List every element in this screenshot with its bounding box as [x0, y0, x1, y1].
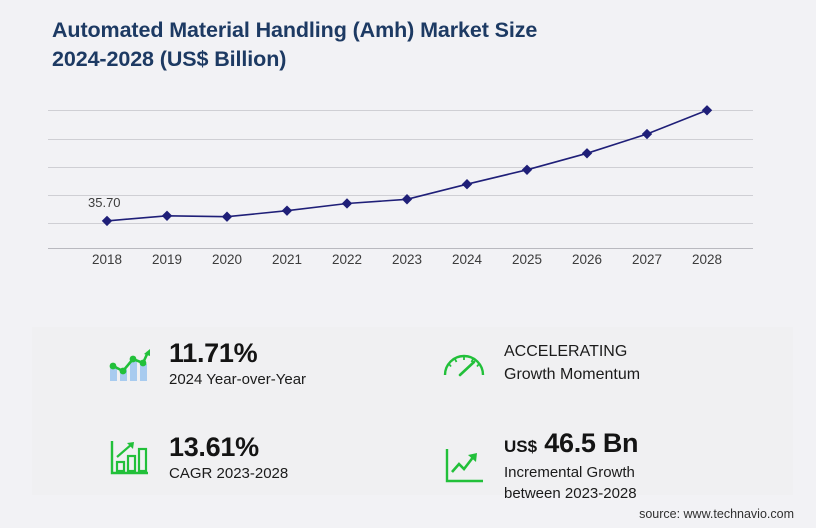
data-point-2019: [162, 211, 172, 221]
line-chart-arrow-icon: [438, 443, 490, 489]
stat-cagr-caption: CAGR 2023-2028: [169, 463, 288, 484]
x-tick-2022: 2022: [317, 252, 377, 267]
page-title: Automated Material Handling (Amh) Market…: [52, 16, 712, 74]
data-point-2021: [282, 205, 292, 215]
stat-yoy-text: 11.71% 2024 Year-over-Year: [169, 338, 306, 390]
title-line-2: 2024-2028 (US$ Billion): [52, 45, 712, 74]
stat-yoy-value: 11.71%: [169, 338, 306, 369]
data-point-2023: [402, 194, 412, 204]
stat-cagr-text: 13.61% CAGR 2023-2028: [169, 432, 288, 484]
data-point-2022: [342, 198, 352, 208]
x-tick-2024: 2024: [437, 252, 497, 267]
data-point-2026: [582, 148, 592, 158]
stat-cagr: 13.61% CAGR 2023-2028: [103, 432, 288, 484]
bar-chart-arrow-icon: [103, 435, 155, 481]
data-point-2020: [222, 211, 232, 221]
data-point-2025: [522, 165, 532, 175]
x-axis-labels: 2018201920202021202220232024202520262027…: [0, 252, 816, 278]
series-markers: [102, 105, 712, 226]
x-tick-2028: 2028: [677, 252, 737, 267]
x-tick-2019: 2019: [137, 252, 197, 267]
data-point-2027: [642, 129, 652, 139]
speedometer-icon: [438, 340, 490, 386]
data-point-label-2018: 35.70: [88, 195, 121, 210]
stat-momentum-caption: Growth Momentum: [504, 363, 640, 386]
stat-incremental-amount: 46.5 Bn: [544, 428, 638, 458]
bar-chart-trend-icon: [103, 341, 155, 387]
x-tick-2027: 2027: [617, 252, 677, 267]
x-tick-2021: 2021: [257, 252, 317, 267]
x-tick-2018: 2018: [77, 252, 137, 267]
data-point-2028: [702, 105, 712, 115]
stat-incremental-caption-2: between 2023-2028: [504, 483, 638, 504]
title-line-1: Automated Material Handling (Amh) Market…: [52, 18, 537, 42]
x-tick-2023: 2023: [377, 252, 437, 267]
stat-incremental-caption-1: Incremental Growth: [504, 462, 638, 483]
stat-momentum-text: ACCELERATING Growth Momentum: [504, 340, 640, 386]
x-tick-2020: 2020: [197, 252, 257, 267]
market-size-line-chart: 35.70 2018201920202021202220232024202520…: [0, 92, 816, 292]
x-tick-2026: 2026: [557, 252, 617, 267]
stat-momentum: ACCELERATING Growth Momentum: [438, 340, 640, 386]
stat-momentum-headline: ACCELERATING: [504, 340, 640, 363]
x-tick-2025: 2025: [497, 252, 557, 267]
source-note: source: www.technavio.com: [639, 507, 794, 521]
stat-yoy-caption: 2024 Year-over-Year: [169, 369, 306, 390]
stat-yoy: 11.71% 2024 Year-over-Year: [103, 338, 306, 390]
stat-incremental-value: US$ 46.5 Bn: [504, 428, 638, 462]
stat-cagr-value: 13.61%: [169, 432, 288, 463]
stat-incremental-unit: US$: [504, 437, 537, 456]
infographic-root: Automated Material Handling (Amh) Market…: [0, 0, 816, 528]
data-point-2024: [462, 179, 472, 189]
stat-incremental-text: US$ 46.5 Bn Incremental Growth between 2…: [504, 428, 638, 504]
stat-incremental-growth: US$ 46.5 Bn Incremental Growth between 2…: [438, 428, 638, 504]
data-point-2018: [102, 216, 112, 226]
